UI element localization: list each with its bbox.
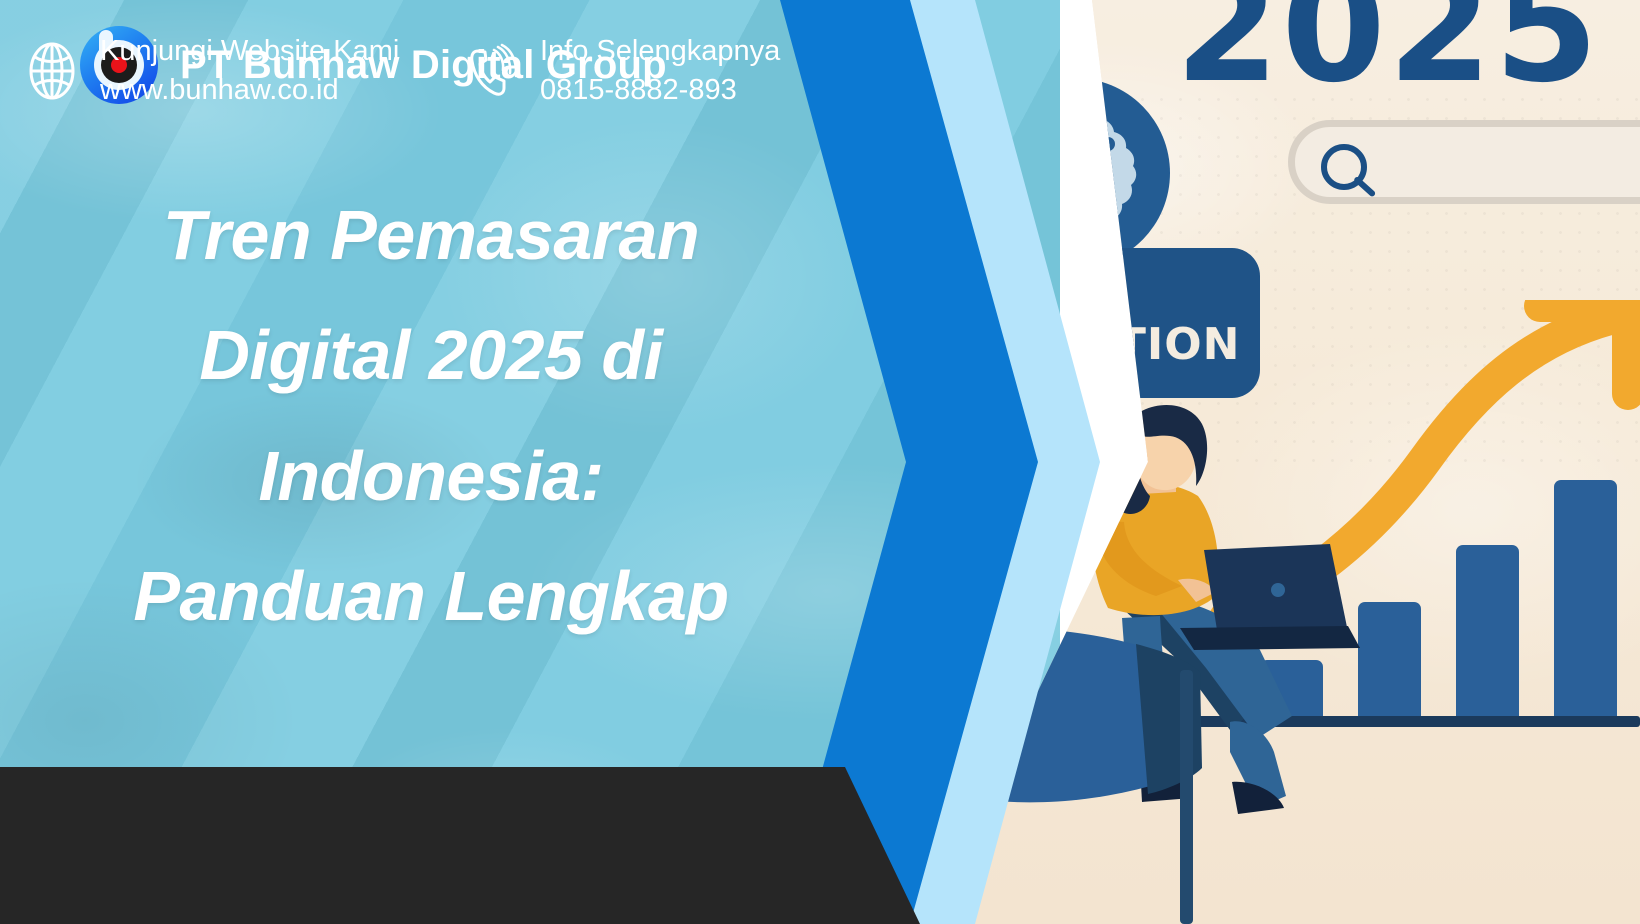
- footer-website-text: Kunjungi Website Kami www.bunhaw.co.id: [100, 32, 399, 109]
- page-title: Tren Pemasaran Digital 2025 di Indonesia…: [36, 175, 826, 657]
- footer-phone-block[interactable]: Info Selengkapnya 0815-8882-893: [464, 32, 780, 109]
- headline-line-4: Panduan Lengkap: [36, 536, 826, 656]
- search-icon-handle: [1353, 176, 1376, 198]
- headline-line-3: Indonesia:: [36, 416, 826, 536]
- footer-website-title: Kunjungi Website Kami: [100, 32, 399, 71]
- megaphone-stand: [1180, 670, 1193, 924]
- phone-ringing-icon: [464, 41, 520, 101]
- footer-phone-text: Info Selengkapnya 0815-8882-893: [540, 32, 780, 109]
- headline-line-1: Tren Pemasaran: [36, 175, 826, 295]
- headline-line-2: Digital 2025 di: [36, 295, 826, 415]
- search-bar-graphic: [1288, 120, 1640, 204]
- globe-icon: [24, 41, 80, 101]
- bar-2: [1358, 602, 1421, 720]
- bar-4: [1554, 480, 1617, 720]
- footer-phone-value: 0815-8882-893: [540, 71, 780, 110]
- bar-3: [1456, 545, 1519, 720]
- footer-phone-title: Info Selengkapnya: [540, 32, 780, 71]
- footer-website-block[interactable]: Kunjungi Website Kami www.bunhaw.co.id: [24, 32, 399, 109]
- footer-website-value: www.bunhaw.co.id: [100, 71, 399, 110]
- year-2025-text: 2025: [1175, 0, 1600, 116]
- poster-canvas: 2025: [0, 0, 1640, 924]
